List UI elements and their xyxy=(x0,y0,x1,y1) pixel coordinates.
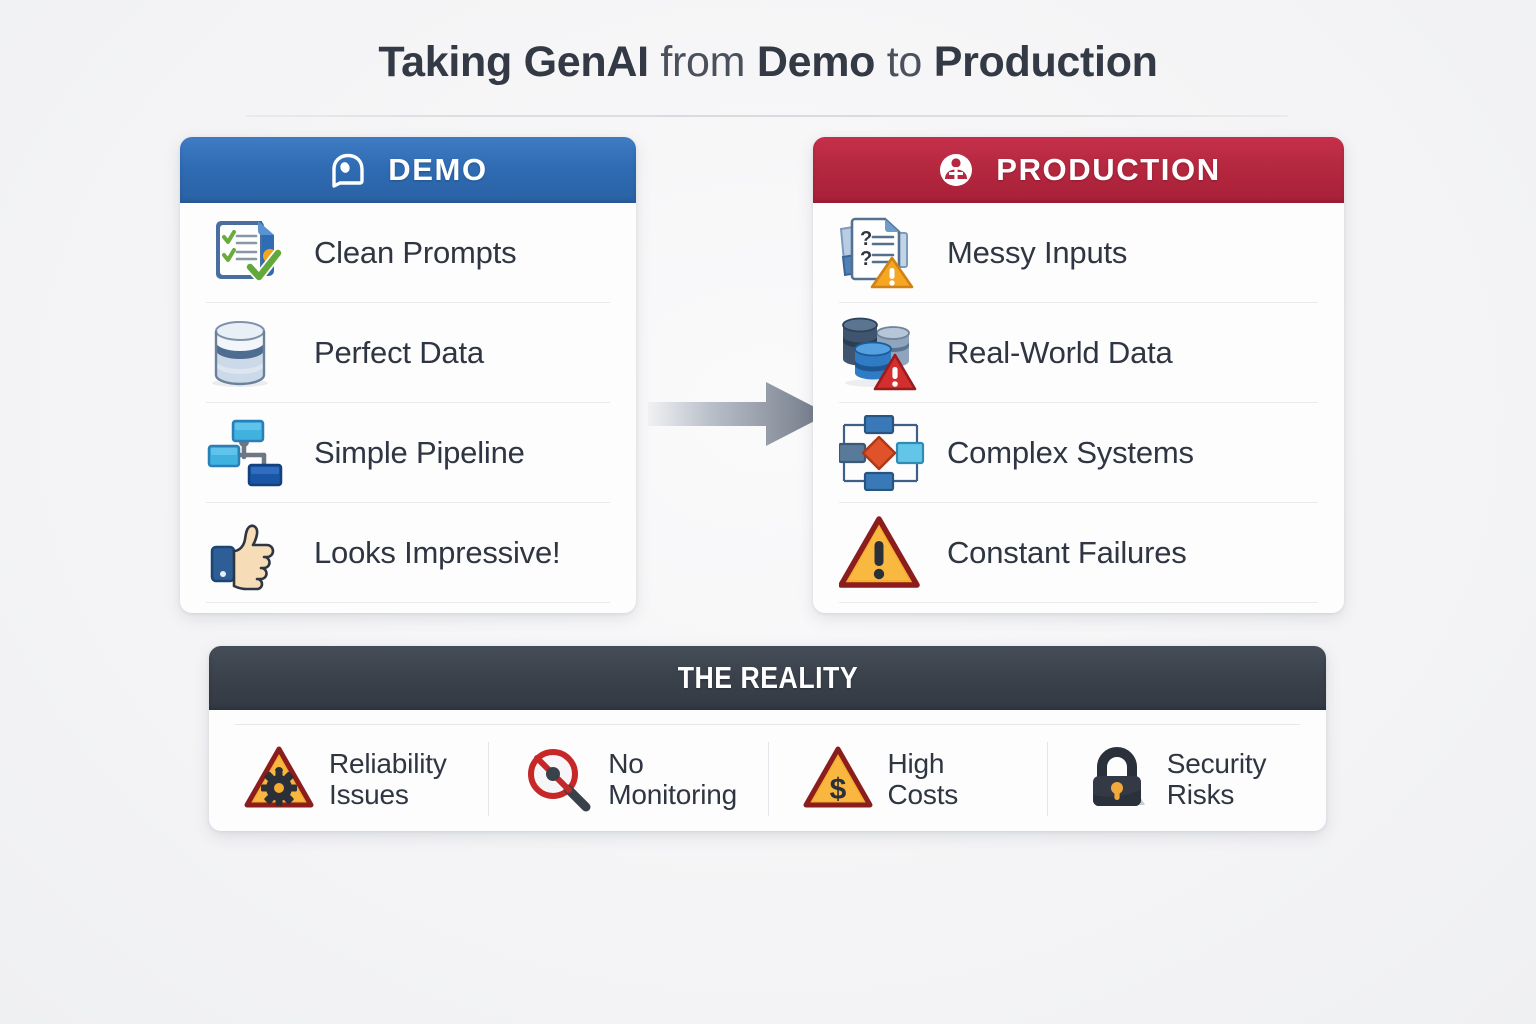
factory-gear-circle-icon xyxy=(936,150,976,190)
list-item[interactable]: Security Risks xyxy=(1047,734,1326,824)
complex-network-diagram-icon xyxy=(839,415,925,491)
list-item-label-line2: Monitoring xyxy=(608,779,737,810)
reality-header-label: THE REALITY xyxy=(677,660,857,696)
production-card: PRODUCTION ? ? xyxy=(813,137,1344,613)
simple-flowchart-icon xyxy=(206,415,292,491)
gear-warning-triangle-icon xyxy=(243,743,315,815)
title-part-1: Taking GenAI xyxy=(378,38,648,86)
page-title: Taking GenAI from Demo to Production xyxy=(0,38,1536,87)
svg-text:?: ? xyxy=(860,248,872,270)
list-item[interactable]: Complex Systems xyxy=(839,403,1318,503)
demo-item-list: Clean Prompts Perfect Data xyxy=(180,203,636,603)
list-item-label: High Costs xyxy=(888,748,959,811)
list-item-label: Complex Systems xyxy=(947,435,1194,471)
infographic-canvas: Taking GenAI from Demo to Production DEM… xyxy=(0,0,1536,1024)
title-divider xyxy=(246,115,1288,117)
checklist-document-icon xyxy=(206,215,292,291)
presentation-bubble-icon xyxy=(328,150,368,190)
title-part-2: from xyxy=(660,38,745,86)
right-arrow xyxy=(648,378,828,450)
list-item-label: Security Risks xyxy=(1167,748,1326,811)
list-item-label: No Monitoring xyxy=(608,748,737,811)
list-item-label: Reliability Issues xyxy=(329,748,447,811)
list-item[interactable]: Perfect Data xyxy=(206,303,610,403)
list-item[interactable]: Clean Prompts xyxy=(206,203,610,303)
reality-panel-header: THE REALITY xyxy=(209,646,1326,710)
production-item-list: ? ? Messy Inputs xyxy=(813,203,1344,603)
list-item[interactable]: Simple Pipeline xyxy=(206,403,610,503)
list-item-label-line1: Reliability xyxy=(329,748,447,779)
svg-text:?: ? xyxy=(860,228,872,250)
list-item-label-line1: High xyxy=(888,748,959,779)
list-item[interactable]: No Monitoring xyxy=(488,734,767,824)
demo-header-label: DEMO xyxy=(388,152,487,188)
list-item-label: Constant Failures xyxy=(947,535,1187,571)
reality-item-list: Reliability Issues No Monitoring xyxy=(209,734,1326,824)
list-item-label: Looks Impressive! xyxy=(314,535,560,571)
thumbs-up-icon xyxy=(206,515,292,591)
database-cylinder-icon xyxy=(206,315,292,391)
title-part-4: to xyxy=(887,38,922,86)
list-item-label-line2: Issues xyxy=(329,779,447,810)
list-item-label-line1: Security Risks xyxy=(1167,748,1326,811)
list-item-label: Real-World Data xyxy=(947,335,1173,371)
multiple-databases-alert-icon xyxy=(839,315,925,391)
svg-text:$: $ xyxy=(829,773,846,806)
reality-panel: THE REALITY xyxy=(209,646,1326,831)
production-card-header: PRODUCTION xyxy=(813,137,1344,203)
list-item-label: Perfect Data xyxy=(314,335,484,371)
reality-divider xyxy=(235,724,1300,725)
title-part-5: Production xyxy=(934,38,1158,86)
title-part-3: Demo xyxy=(757,38,875,86)
padlock-icon xyxy=(1081,743,1153,815)
list-item-label: Clean Prompts xyxy=(314,235,516,271)
warning-triangle-icon xyxy=(839,515,925,591)
messy-documents-warning-icon: ? ? xyxy=(839,215,925,291)
list-item[interactable]: Real-World Data xyxy=(839,303,1318,403)
demo-card: DEMO xyxy=(180,137,636,613)
list-item-label: Simple Pipeline xyxy=(314,435,525,471)
dollar-warning-triangle-icon: $ xyxy=(802,743,874,815)
demo-card-header: DEMO xyxy=(180,137,636,203)
production-header-label: PRODUCTION xyxy=(996,152,1220,188)
list-item-label: Messy Inputs xyxy=(947,235,1127,271)
list-item[interactable]: ? ? Messy Inputs xyxy=(839,203,1318,303)
list-item-label-line2: Costs xyxy=(888,779,959,810)
no-monitoring-magnifier-icon xyxy=(522,743,594,815)
list-item[interactable]: Looks Impressive! xyxy=(206,503,610,603)
list-item-label-line1: No xyxy=(608,748,737,779)
list-item[interactable]: $ High Costs xyxy=(768,734,1047,824)
list-item[interactable]: Reliability Issues xyxy=(209,734,488,824)
list-item[interactable]: Constant Failures xyxy=(839,503,1318,603)
